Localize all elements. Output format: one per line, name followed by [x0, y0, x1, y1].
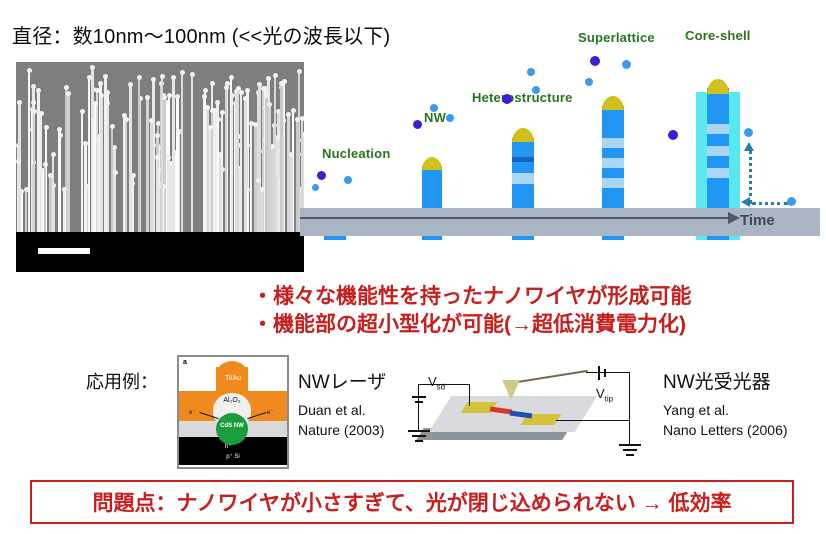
growth-sequence-diagram: Nucleation NW Heterostructure Superlatti… [300, 58, 820, 240]
time-axis-line [300, 217, 735, 219]
shell-growth-arrow-shaft [749, 150, 752, 204]
stage-label-superlattice: Superlattice [578, 30, 655, 45]
precursor-dot [502, 94, 512, 104]
sem-nanowire [296, 120, 299, 232]
sem-nanowire [219, 155, 221, 232]
nw-photodetector-citation: Yang et al. Nano Letters (2006) [663, 400, 788, 441]
sem-nanowire [290, 155, 293, 232]
p-si-label: p⁺ Si [179, 453, 287, 460]
catalyst-droplet-icon [512, 128, 534, 142]
sem-nanowire [261, 190, 263, 232]
citation-source: Nature (2003) [298, 420, 384, 440]
sem-nanowire [274, 76, 276, 232]
sem-nanowire [132, 176, 134, 232]
sem-scale-bar [38, 248, 90, 254]
battery-plate [412, 396, 426, 398]
precursor-dot [622, 60, 631, 69]
ground-symbol [623, 449, 637, 451]
substrate-bar: Time [300, 208, 820, 236]
figure-panel-tag: a [183, 359, 187, 366]
precursor-dot [527, 68, 535, 76]
sem-nanowire [203, 97, 205, 232]
sem-nanowire [240, 93, 242, 232]
sem-nanowire [52, 155, 54, 232]
nw-laser-figure: a Ti/Au Al₂O₃ CdS NW e⁻ e⁻ h⁺ p⁺ Si [177, 355, 289, 469]
superlattice-stripe [602, 138, 624, 148]
sem-nanowire [172, 78, 175, 232]
key-point-1: ・様々な機能性を持ったナノワイヤが形成可能 [252, 283, 812, 311]
sem-nanowire [125, 120, 127, 232]
sem-nanowire [138, 78, 140, 232]
ground-symbol [619, 444, 641, 446]
sem-nanowire-texture [16, 62, 304, 232]
sem-nanowire [63, 190, 66, 232]
feed-arrow-shaft [752, 202, 788, 205]
sem-nanowire [276, 138, 278, 232]
sem-nanowire [44, 165, 46, 232]
superlattice-stripe [602, 158, 624, 168]
afm-cantilever [510, 370, 587, 384]
precursor-dot [787, 197, 796, 206]
precursor-dot [317, 171, 326, 180]
sem-nanowire [271, 147, 273, 232]
catalyst-droplet-icon [422, 157, 442, 170]
nw-photodetector-title: NW光受光器 [663, 367, 771, 394]
ti-au-label: Ti/Au [219, 375, 247, 382]
precursor-dot [344, 176, 352, 184]
v-tip-subscript: tip [605, 395, 613, 404]
nw-laser-title: NWレーザ [298, 367, 386, 394]
nw-laser-citation: Duan et al. Nature (2003) [298, 400, 384, 441]
sem-nanowire [94, 104, 96, 232]
precursor-dot [668, 130, 678, 140]
sem-nanowire [231, 96, 233, 232]
precursor-dot [532, 86, 540, 94]
sem-nanowire [104, 77, 107, 232]
problem-statement-text: 問題点：ナノワイヤが小さすぎて、光が閉じ込められない → 低効率 [93, 487, 732, 517]
sem-nanowire [28, 71, 30, 232]
sem-nanowire [146, 98, 149, 232]
sem-nanowire [84, 144, 87, 232]
key-points-list: ・様々な機能性を持ったナノワイヤが形成可能 ・機能部の超小型化が可能(→超低消費… [252, 283, 812, 338]
stage-label-heterostructure: Heterostructure [472, 90, 573, 105]
stage-label-core-shell: Core-shell [685, 28, 751, 43]
applications-label: 応用例： [86, 368, 158, 394]
circuit-wire [586, 372, 630, 373]
sem-nanowire [156, 158, 158, 232]
battery-plate [598, 366, 600, 380]
ground-symbol [626, 454, 634, 456]
battery-plate [604, 369, 606, 377]
stage-label-nucleation: Nucleation [322, 146, 390, 161]
citation-author: Yang et al. [663, 400, 788, 420]
sem-nanowire [280, 84, 283, 232]
precursor-dot [446, 114, 454, 122]
circuit-wire [469, 384, 470, 406]
electron-label-left: e⁻ [189, 409, 196, 416]
sem-nanowire [88, 78, 90, 232]
electron-label-right: e⁻ [267, 409, 274, 416]
top-contact-dome [216, 361, 248, 375]
sem-nanowire [209, 128, 211, 232]
sem-nanowire [67, 94, 70, 232]
sem-nanowire [167, 158, 170, 232]
ground-symbol [408, 430, 430, 432]
sem-nanowire [221, 113, 223, 232]
cds-nw-label: CdS NW [216, 423, 248, 429]
precursor-dot [585, 78, 593, 86]
sem-nanowire [129, 85, 132, 232]
key-point-2: ・機能部の超小型化が可能(→超低消費電力化) [252, 311, 812, 339]
superlattice-stripe [707, 146, 729, 156]
ground-symbol [412, 435, 426, 437]
superlattice-stripe [707, 124, 729, 134]
heterojunction-stripe [512, 157, 534, 162]
sem-nanowire [37, 91, 40, 232]
sem-nanowire [111, 127, 113, 232]
precursor-dot [744, 128, 753, 137]
superlattice-stripe [602, 178, 624, 188]
afm-tip-icon [502, 380, 520, 400]
v-tip-label: Vtip [596, 386, 613, 404]
feed-arrow-head [741, 197, 750, 207]
shell-growth-arrow-head [744, 142, 754, 151]
problem-statement-box: 問題点：ナノワイヤが小さすぎて、光が閉じ込められない → 低効率 [30, 480, 794, 524]
alumina-label: Al₂O₃ [213, 397, 251, 404]
hole-label: h⁺ [225, 443, 232, 450]
time-axis-label: Time [740, 212, 775, 229]
citation-author: Duan et al. [298, 400, 384, 420]
sem-nanowire [225, 88, 227, 232]
cds-nanowire-circle [216, 413, 248, 445]
sem-image [16, 62, 304, 272]
ground-symbol [415, 440, 423, 442]
sem-nanowire [114, 173, 116, 232]
sem-nanowire [81, 112, 83, 232]
v-tip-symbol: V [596, 386, 605, 401]
sem-nanowire [97, 140, 99, 232]
sem-nanowire [244, 99, 247, 232]
sem-nanowire [100, 96, 103, 232]
sem-nanowire [191, 75, 193, 232]
time-axis-arrowhead [728, 212, 740, 224]
v-sd-subscript: sd [437, 383, 445, 392]
v-sd-label: Vsd [428, 374, 445, 392]
heterojunction-stripe [512, 173, 534, 184]
citation-source: Nano Letters (2006) [663, 420, 788, 440]
precursor-dot [312, 184, 319, 191]
sem-nanowire [17, 162, 19, 232]
precursor-dot [430, 104, 438, 112]
circuit-wire [629, 372, 630, 444]
sem-nanowire [25, 190, 27, 232]
sem-nanowire [49, 176, 52, 232]
sem-nanowire [181, 73, 183, 232]
catalyst-droplet-icon [707, 79, 729, 94]
sem-nanowire [268, 105, 271, 232]
sem-nanowire [58, 130, 61, 232]
v-sd-symbol: V [428, 374, 437, 389]
sem-nanowire [250, 124, 252, 232]
circuit-wire [418, 402, 419, 430]
precursor-dot [413, 120, 422, 129]
superlattice-stripe [707, 168, 729, 178]
sem-nanowire [33, 112, 35, 232]
page-title: 直径：数10nm〜100nm (<<光の波長以下) [12, 20, 472, 49]
battery-plate [415, 401, 423, 403]
sem-nanowire [176, 97, 179, 232]
sem-nanowire [237, 89, 239, 232]
nw-photodetector-figure: Vsd Vtip [400, 358, 632, 464]
catalyst-droplet-icon [602, 96, 624, 110]
sem-nanowire [150, 121, 153, 232]
circuit-wire [556, 420, 630, 421]
sem-nanowire [161, 77, 163, 232]
stage-label-nw: NW [424, 110, 446, 125]
precursor-dot [590, 56, 600, 66]
